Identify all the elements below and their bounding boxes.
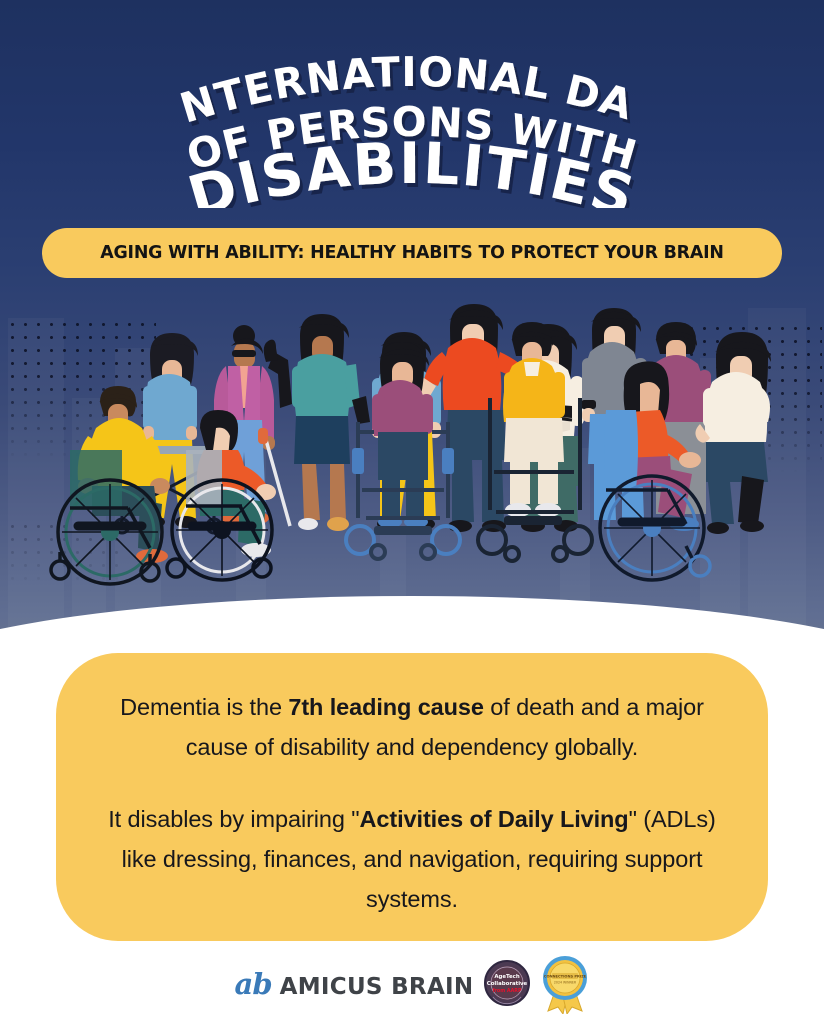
badge2-line2: 2024 WINNER bbox=[554, 981, 577, 985]
footer-logos: ab AMICUS BRAIN AgeTech Collaborative fr… bbox=[0, 952, 824, 1016]
people-illustration bbox=[0, 300, 824, 600]
poster-root: INTERNATIONAL DAY OF PERSONS WITH DISABI… bbox=[0, 0, 824, 1030]
badge1-line1: AgeTech bbox=[495, 974, 520, 980]
amicus-brain-name: AMICUS BRAIN bbox=[280, 974, 474, 1000]
amicus-brain-mark: ab bbox=[235, 967, 272, 1001]
figure-white-tee-woman bbox=[695, 332, 771, 534]
body-paragraph-2: It disables by impairing "Activities of … bbox=[102, 799, 722, 919]
badge2-line1: CONNECTIONS PRIZE bbox=[544, 975, 587, 979]
body-p2-highlight: Activities of Daily Living bbox=[360, 806, 629, 832]
subtitle-text: AGING WITH ABILITY: HEALTHY HABITS TO PR… bbox=[100, 243, 724, 263]
body-paragraph-1: Dementia is the 7th leading cause of dea… bbox=[102, 687, 722, 767]
amicus-brain-logo[interactable]: ab AMICUS BRAIN bbox=[235, 967, 474, 1001]
body-text-card: Dementia is the 7th leading cause of dea… bbox=[56, 653, 768, 941]
figure-prosthetic-woman bbox=[264, 314, 370, 531]
body-p1-pre: Dementia is the bbox=[120, 694, 288, 720]
badge1-line2: Collaborative bbox=[487, 981, 528, 987]
award-ribbon-badge[interactable]: CONNECTIONS PRIZE 2024 WINNER bbox=[541, 954, 589, 1014]
badge1-line3: from AARP bbox=[493, 988, 523, 994]
subtitle-banner: AGING WITH ABILITY: HEALTHY HABITS TO PR… bbox=[42, 228, 782, 278]
body-p1-highlight: 7th leading cause bbox=[288, 694, 484, 720]
body-p2-pre: It disables by impairing " bbox=[108, 806, 359, 832]
agetech-collaborative-aarp-badge[interactable]: AgeTech Collaborative from AARP bbox=[482, 957, 532, 1011]
illustration-artwork bbox=[0, 300, 824, 600]
paragraph-spacer bbox=[102, 767, 722, 799]
